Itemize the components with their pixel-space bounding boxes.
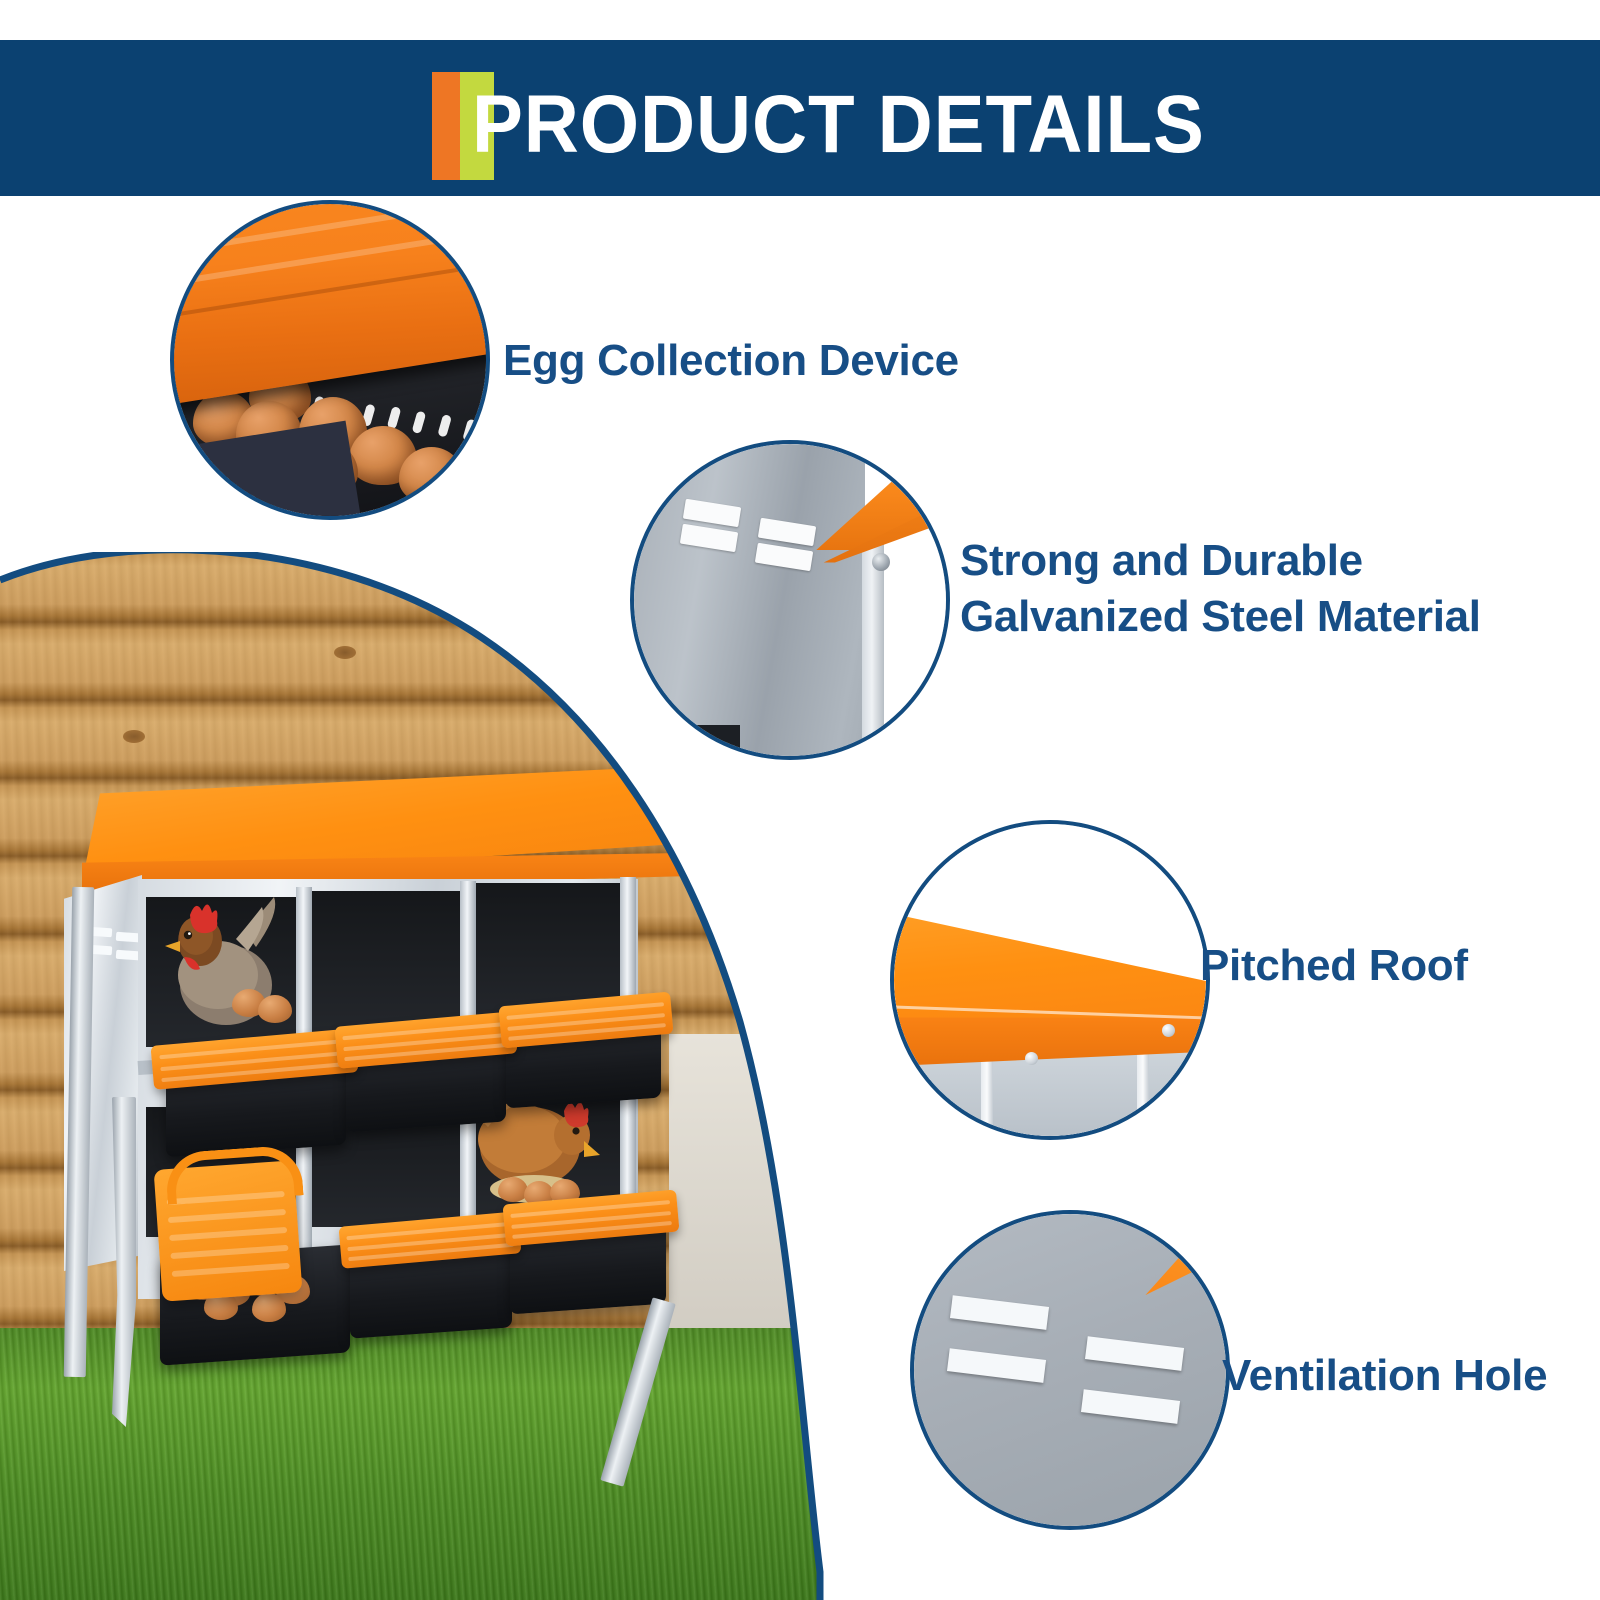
compartment-cavity [310, 891, 460, 1037]
galvanized-steel-image [634, 444, 946, 756]
shadow-under-panel [659, 725, 740, 756]
screw [872, 553, 890, 571]
callout-label-galvanized-steel: Strong and Durable Galvanized Steel Mate… [960, 533, 1481, 646]
callout-label-line: Strong and Durable [960, 533, 1481, 589]
callout-label-ventilation-hole: Ventilation Hole [1222, 1348, 1547, 1404]
page-title: PRODUCT DETAILS [472, 66, 1205, 184]
egg [498, 1177, 528, 1202]
egg-collection-image [174, 204, 486, 516]
galvanized-steel-inset [630, 440, 950, 760]
chicken-nesting-box [60, 767, 700, 1527]
ventilation-hole-inset [910, 1210, 1230, 1530]
pitched-roof-image [894, 824, 1206, 1136]
callout-label-line: Ventilation Hole [1222, 1348, 1547, 1404]
pitched-roof-inset [890, 820, 1210, 1140]
egg [252, 1293, 286, 1322]
product-body [100, 879, 660, 1349]
ventilation-hole-image [914, 1214, 1226, 1526]
callout-label-pitched-roof: Pitched Roof [1200, 938, 1468, 994]
roof-rivet [1025, 1052, 1038, 1065]
callout-label-egg-collection: Egg Collection Device [503, 333, 959, 389]
callout-label-line: Egg Collection Device [503, 333, 959, 389]
compartment-divider [296, 887, 312, 1055]
egg-collection-inset [170, 200, 490, 520]
egg [399, 447, 465, 503]
callout-label-line: Pitched Roof [1200, 938, 1468, 994]
egg [258, 995, 292, 1023]
roof-rivet [1162, 1024, 1175, 1037]
callout-label-line: Galvanized Steel Material [960, 589, 1481, 645]
accent-bar-orange [432, 72, 460, 180]
